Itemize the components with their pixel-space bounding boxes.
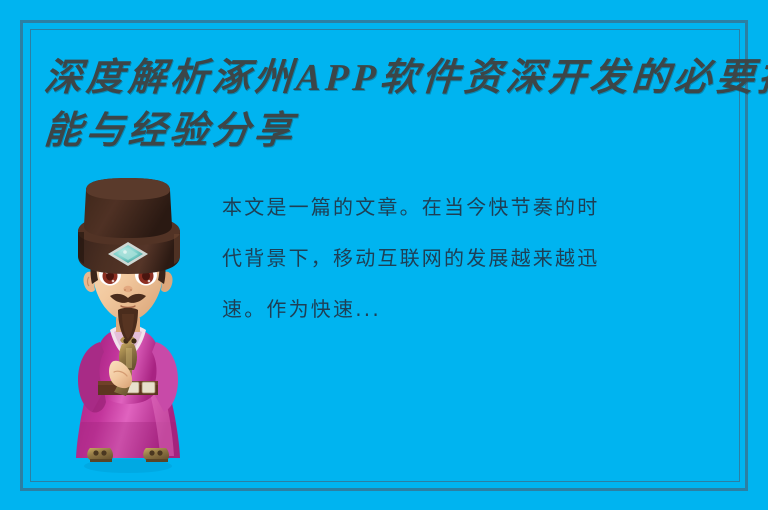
character-official-hat <box>78 178 180 274</box>
article-title-line-2: 能与经验分享 <box>42 105 768 158</box>
article-excerpt-line-3: 速。作为快速... <box>222 284 762 335</box>
article-title: 深度解析涿州APP软件资深开发的必要技 能与经验分享 <box>44 52 768 158</box>
article-excerpt: 本文是一篇的文章。在当今快节奏的时 代背景下，移动互联网的发展越来越迅 速。作为… <box>222 182 762 335</box>
article-thumbnail-card: 深度解析涿州APP软件资深开发的必要技 能与经验分享 本文是一篇的文章。在当今快… <box>0 0 768 510</box>
article-title-line-1: 深度解析涿州APP软件资深开发的必要技 <box>42 52 768 105</box>
chinese-official-character-illustration <box>48 176 208 476</box>
article-excerpt-line-2: 代背景下，移动互联网的发展越来越迅 <box>222 233 762 284</box>
article-excerpt-line-1: 本文是一篇的文章。在当今快节奏的时 <box>222 182 762 233</box>
